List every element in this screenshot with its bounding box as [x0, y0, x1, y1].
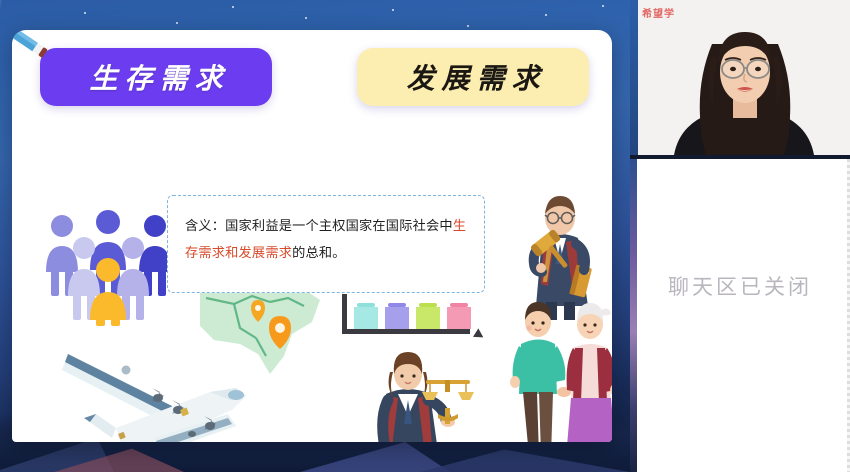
bar-chart-y-axis — [342, 294, 347, 334]
presentation-stage: 生存需求 发展需求 — [0, 0, 630, 472]
bar-chart-illustration — [342, 294, 482, 340]
chat-panel: 聊天区已关闭 — [630, 159, 850, 472]
bar-chart-bar — [385, 307, 409, 329]
military-transport-airplane-illustration — [60, 348, 256, 442]
teacher-video-panel[interactable]: 希望学 — [630, 0, 850, 155]
heading-badge-survival: 生存需求 — [40, 48, 272, 106]
heading-badge-development: 发展需求 — [357, 48, 589, 106]
lesson-player-window: 生存需求 发展需求 — [0, 0, 850, 472]
video-watermark: 希望学 — [642, 5, 675, 20]
crowd-of-people-illustration — [38, 208, 186, 326]
teacher-video-frame — [638, 0, 850, 155]
video-left-edge — [630, 0, 638, 155]
chat-closed-message: 聊天区已关闭 — [630, 271, 850, 301]
bar-chart-arrow-icon — [473, 328, 486, 341]
chat-left-edge — [630, 159, 637, 472]
definition-text: 含义：国家利益是一个主权国家在国际社会中生存需求和发展需求的总和。 — [185, 213, 468, 267]
definition-suffix: 的总和。 — [292, 246, 346, 261]
slide-card: 生存需求 发展需求 — [12, 30, 612, 442]
bar-chart-bar — [447, 307, 471, 329]
definition-prefix: 含义：国家利益是一个主权国家在国际社会中 — [185, 219, 453, 234]
bar-chart-bar — [416, 307, 440, 329]
heading-badge-development-label: 发展需求 — [399, 57, 546, 97]
pencil-icon — [12, 30, 49, 60]
bar-chart-bar — [354, 307, 378, 329]
bar-chart-x-axis — [342, 329, 470, 334]
definition-callout-box: 含义：国家利益是一个主权国家在国际社会中生存需求和发展需求的总和。 — [167, 195, 485, 293]
right-sidebar: 希望学 聊天区已关闭 — [630, 0, 850, 472]
young-person-with-elderly-woman-illustration — [507, 298, 612, 442]
heading-badge-survival-label: 生存需求 — [82, 57, 229, 97]
judge-with-scales-illustration — [364, 348, 484, 442]
